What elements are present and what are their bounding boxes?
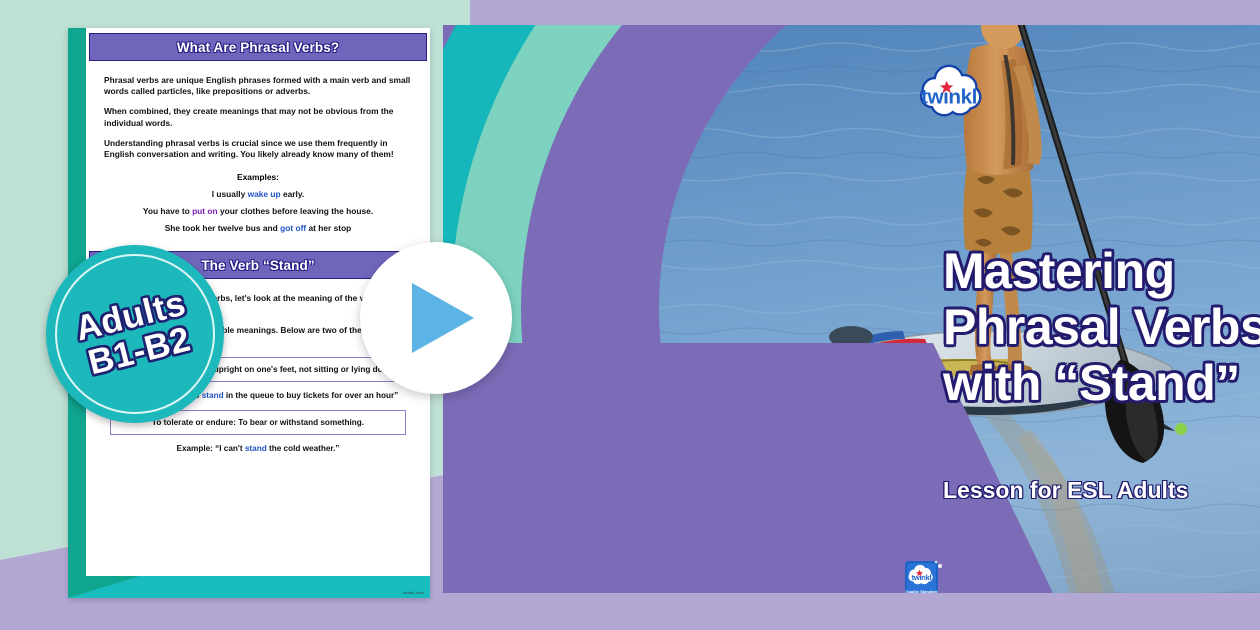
document-body: Phrasal verbs are unique English phrases…	[86, 61, 430, 233]
example-line: She took her twelve bus and got off at h…	[104, 223, 412, 233]
example-text: at her stop	[306, 223, 351, 233]
example-text: Example: “I can't	[176, 444, 244, 453]
definition-example: Example: “I can't stand the cold weather…	[104, 444, 412, 453]
card-subtitle: Lesson for ESL Adults	[943, 477, 1188, 504]
example-verb: stand	[202, 391, 224, 400]
card-title-line: Phrasal Verbs	[943, 299, 1260, 355]
twinkl-logo-icon: twinkl	[901, 63, 997, 129]
example-text: I usually	[212, 189, 248, 199]
card-title-line: with “Stand”	[943, 355, 1260, 411]
adults-level-badge: Adults B1-B2	[46, 245, 224, 423]
example-text: She took her twelve bus and	[165, 223, 280, 233]
example-verb: stand	[245, 444, 267, 453]
document-footer-code: twinkl.com	[403, 590, 424, 595]
play-triangle-icon	[412, 283, 474, 353]
screenshot-root: What Are Phrasal Verbs? Phrasal verbs ar…	[0, 0, 1260, 630]
twinkl-quality-standard-badge-icon: twinkl Quality Standard Approved	[903, 558, 945, 593]
example-phrasal-verb: put on	[192, 206, 218, 216]
document-heading-1-label: What Are Phrasal Verbs?	[177, 40, 339, 55]
svg-text:twinkl: twinkl	[912, 573, 932, 582]
example-text: in the queue to buy tickets for over an …	[224, 391, 399, 400]
examples-heading: Examples:	[104, 172, 412, 182]
example-phrasal-verb: wake up	[248, 189, 281, 199]
card-title: Mastering Phrasal Verbs with “Stand”	[943, 243, 1260, 411]
play-button[interactable]	[360, 242, 512, 394]
document-heading-2-label: The Verb “Stand”	[201, 258, 314, 273]
example-text: the cold weather.”	[267, 444, 340, 453]
example-text: early.	[281, 189, 305, 199]
lesson-thumbnail-card[interactable]: twinkl Mastering Phrasal Verbs with “Sta…	[443, 25, 1260, 593]
example-text: your clothes before leaving the house.	[218, 206, 373, 216]
document-heading-1: What Are Phrasal Verbs?	[89, 33, 427, 61]
example-text: You have to	[143, 206, 192, 216]
card-title-line: Mastering	[943, 243, 1260, 299]
adults-level-badge-text: Adults B1-B2	[72, 286, 198, 382]
example-line: You have to put on your clothes before l…	[104, 206, 412, 216]
document-paragraph: Phrasal verbs are unique English phrases…	[104, 75, 412, 97]
example-line: I usually wake up early.	[104, 189, 412, 199]
document-paragraph: Understanding phrasal verbs is crucial s…	[104, 138, 412, 160]
svg-text:Quality Standard: Quality Standard	[905, 589, 938, 593]
example-phrasal-verb: got off	[280, 223, 306, 233]
document-paragraph: When combined, they create meanings that…	[104, 106, 412, 128]
